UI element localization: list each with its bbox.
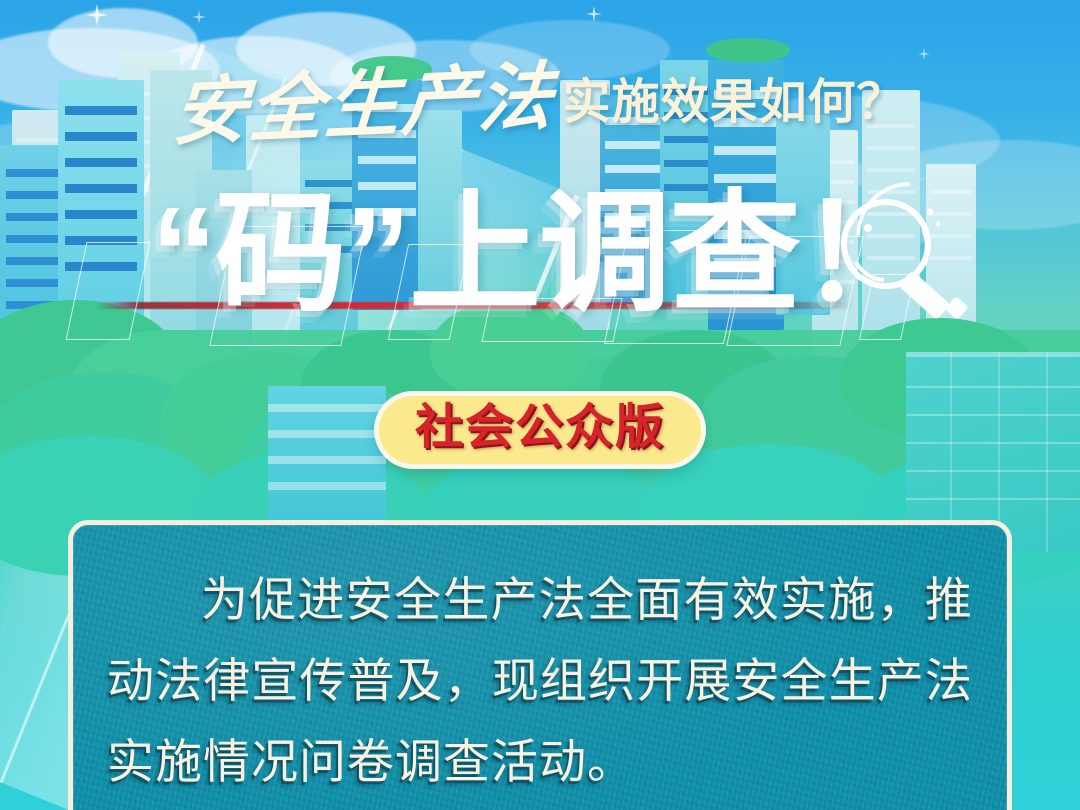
description-panel: 为促进安全生产法全面有效实施，推动法律宣传普及，现组织开展安全生产法实施情况问卷…: [68, 520, 1012, 810]
poster-canvas: 安全生产法 实施效果如何？ “码”上调查！ 社会公众版: [0, 0, 1080, 810]
description-text: 为促进安全生产法全面有效实施，推动法律宣传普及，现组织开展安全生产法实施情况问卷…: [107, 559, 973, 802]
foreground-building-left: [268, 386, 386, 536]
edition-badge-label: 社会公众版: [415, 404, 665, 452]
edition-badge[interactable]: 社会公众版: [374, 391, 706, 469]
